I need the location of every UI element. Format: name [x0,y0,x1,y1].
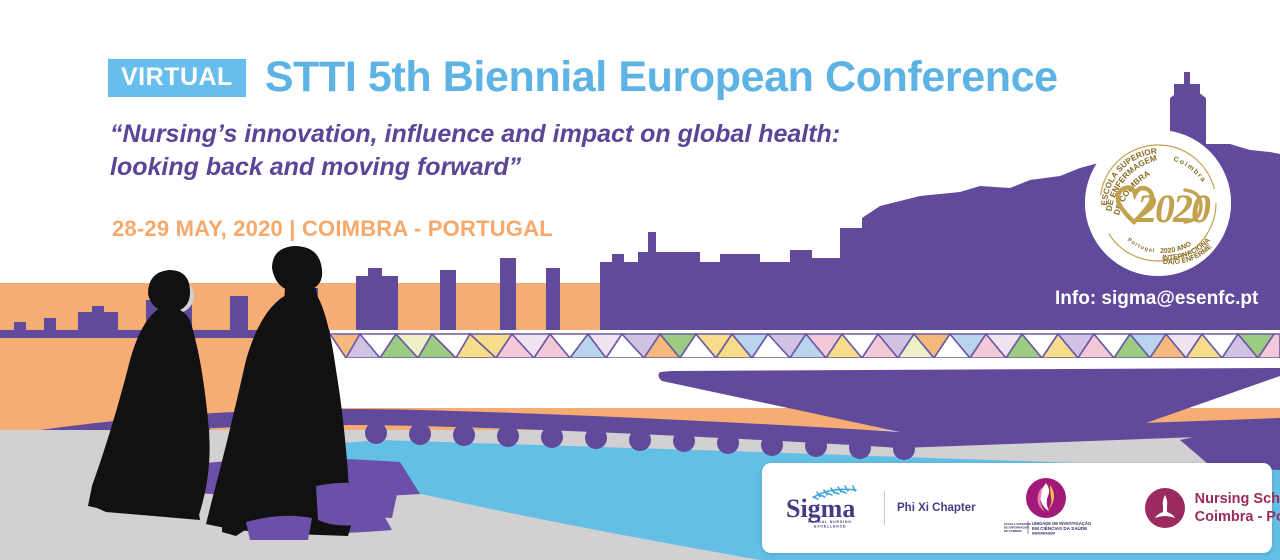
uicisa-flame-icon [1026,478,1066,518]
nursing-school-lamp-icon [1144,487,1186,529]
sigma-tagline-1: GLOBAL NURSING [808,520,852,524]
svg-text:ENFERMAGEM: ENFERMAGEM [1032,532,1055,536]
nursing-school-label: Nursing School of Coimbra - Portugal [1195,490,1280,526]
esenfc-2020-seal: ESCOLA SUPERIOR DE ENFERMAGEM DE COIMBRA… [1085,130,1231,276]
uicisa-logo-group: ESCOLA SUPERIOR DE ENFERMAGEM DE COIMBRA… [1002,477,1114,539]
nursing-school-line-2: Coimbra - Portugal [1195,508,1280,526]
phi-xi-chapter-label: Phi Xi Chapter [897,502,976,514]
uicisa-unit-caption: UNIDADE DE INVESTIGAÇÃO EM CIÊNCIAS DA S… [1032,521,1092,536]
sigma-logo-group: Sigma GLOBAL NURSING EXCELLENCE Phi Xi C… [784,483,976,534]
conference-subtitle: “Nursing’s innovation, influence and imp… [110,118,890,185]
logo-divider [884,491,885,525]
svg-text:DE COIMBRA: DE COIMBRA [1004,529,1022,533]
virtual-badge: VIRTUAL [108,59,246,97]
conference-title: STTI 5th Biennial European Conference [265,56,1058,99]
info-email-line: Info: sigma@esenfc.pt [1055,288,1258,310]
tower-cap [1174,84,1200,98]
subtitle-line-1: “Nursing’s innovation, influence and imp… [110,118,890,151]
conference-banner: VIRTUAL STTI 5th Biennial European Confe… [0,0,1280,560]
sigma-logo: Sigma GLOBAL NURSING EXCELLENCE [784,483,870,534]
uicisa-school-caption: ESCOLA SUPERIOR DE ENFERMAGEM DE COIMBRA [1004,522,1031,533]
nursing-school-logo-group: Nursing School of Coimbra - Portugal [1144,487,1280,529]
partner-logo-bar: Sigma GLOBAL NURSING EXCELLENCE Phi Xi C… [762,463,1272,553]
date-venue-line: 28-29 MAY, 2020 | COIMBRA - PORTUGAL [112,216,553,242]
sigma-tagline-2: EXCELLENCE [814,524,846,528]
subtitle-line-2: looking back and moving forward” [110,151,890,184]
headline-row: VIRTUAL STTI 5th Biennial European Confe… [108,56,1058,99]
svg-text:EM CIÊNCIAS DA SAÚDE: EM CIÊNCIAS DA SAÚDE [1032,524,1087,531]
tower-spire [1184,72,1190,86]
sigma-wordmark: Sigma [786,494,855,523]
nursing-school-line-1: Nursing School of [1195,490,1280,508]
